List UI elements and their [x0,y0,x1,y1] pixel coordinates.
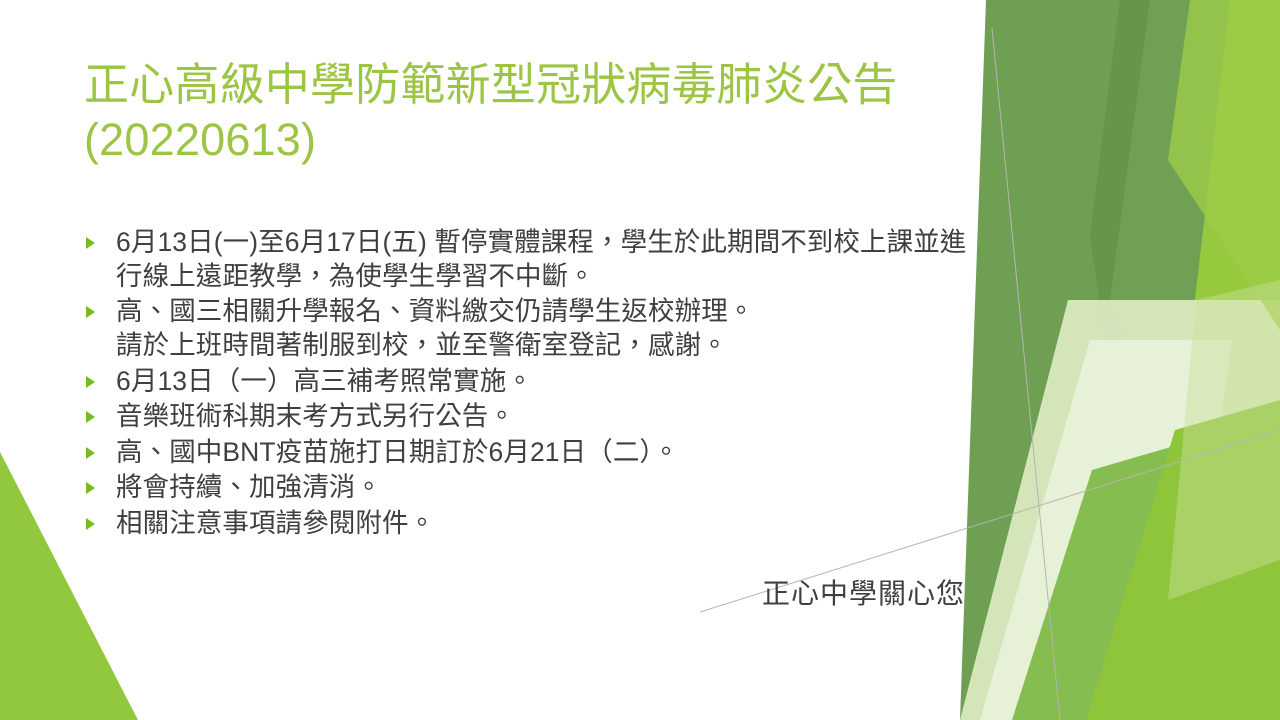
deco-shape-soft-overlay [1168,280,1280,600]
list-item-text: 高、國中BNT疫苗施打日期訂於6月21日（二）。 [116,436,978,470]
deco-shape-pale-sheet [960,300,1280,720]
list-item: 6月13日(一)至6月17日(五) 暫停實體課程，學生於此期間不到校上課並進行線… [78,226,978,293]
footer-signature: 正心中學關心您 [0,572,965,612]
bullet-triangle-icon [78,365,116,388]
deco-hairline-steep [992,28,1060,720]
list-item-text: 6月13日(一)至6月17日(五) 暫停實體課程，學生於此期間不到校上課並進行線… [116,226,978,293]
title-block: 正心高級中學防範新型冠狀病毒肺炎公告(20220613) [84,58,964,168]
list-item: 音樂班術科期末考方式另行公告。 [78,400,978,434]
deco-shape-right-field [1010,0,1280,720]
bullet-triangle-icon [78,507,116,530]
list-item-text: 6月13日（一）高三補考照常實施。 [116,365,978,399]
deco-shape-dark-spear [1110,0,1230,470]
deco-shape-bottom-bright-slab [1086,400,1280,720]
list-item: 高、國三相關升學報名、資料繳交仍請學生返校辦理。 請於上班時間著制服到校，並至警… [78,295,978,362]
bullet-triangle-icon [78,226,116,249]
deco-shape-dark-v-left [960,0,1165,720]
deco-shape-mid-bright-band [1042,0,1230,720]
list-item-text: 將會持續、加強清消。 [116,471,978,505]
page-title: 正心高級中學防範新型冠狀病毒肺炎公告(20220613) [84,58,964,168]
bullet-triangle-icon [78,400,116,423]
deco-shape-dark-v-right [1090,0,1186,500]
list-item: 6月13日（一）高三補考照常實施。 [78,365,978,399]
bullet-triangle-icon [78,471,116,494]
list-item: 高、國中BNT疫苗施打日期訂於6月21日（二）。 [78,436,978,470]
deco-shape-very-pale-sheet [980,340,1232,720]
deco-shape-upper-light-wedge [1168,0,1280,330]
deco-shape-right-band [1130,0,1280,720]
deco-shape-mid-slab [1012,415,1280,720]
slide-canvas: 正心高級中學防範新型冠狀病毒肺炎公告(20220613) 6月13日(一)至6月… [0,0,1280,720]
list-item: 相關注意事項請參閱附件。 [78,507,978,541]
list-item-text: 高、國三相關升學報名、資料繳交仍請學生返校辦理。 請於上班時間著制服到校，並至警… [116,295,978,362]
bullet-list: 6月13日(一)至6月17日(五) 暫停實體課程，學生於此期間不到校上課並進行線… [78,226,978,543]
list-item-text: 相關注意事項請參閱附件。 [116,507,978,541]
list-item-text: 音樂班術科期末考方式另行公告。 [116,400,978,434]
bullet-triangle-icon [78,436,116,459]
list-item: 將會持續、加強清消。 [78,471,978,505]
bullet-triangle-icon [78,295,116,318]
